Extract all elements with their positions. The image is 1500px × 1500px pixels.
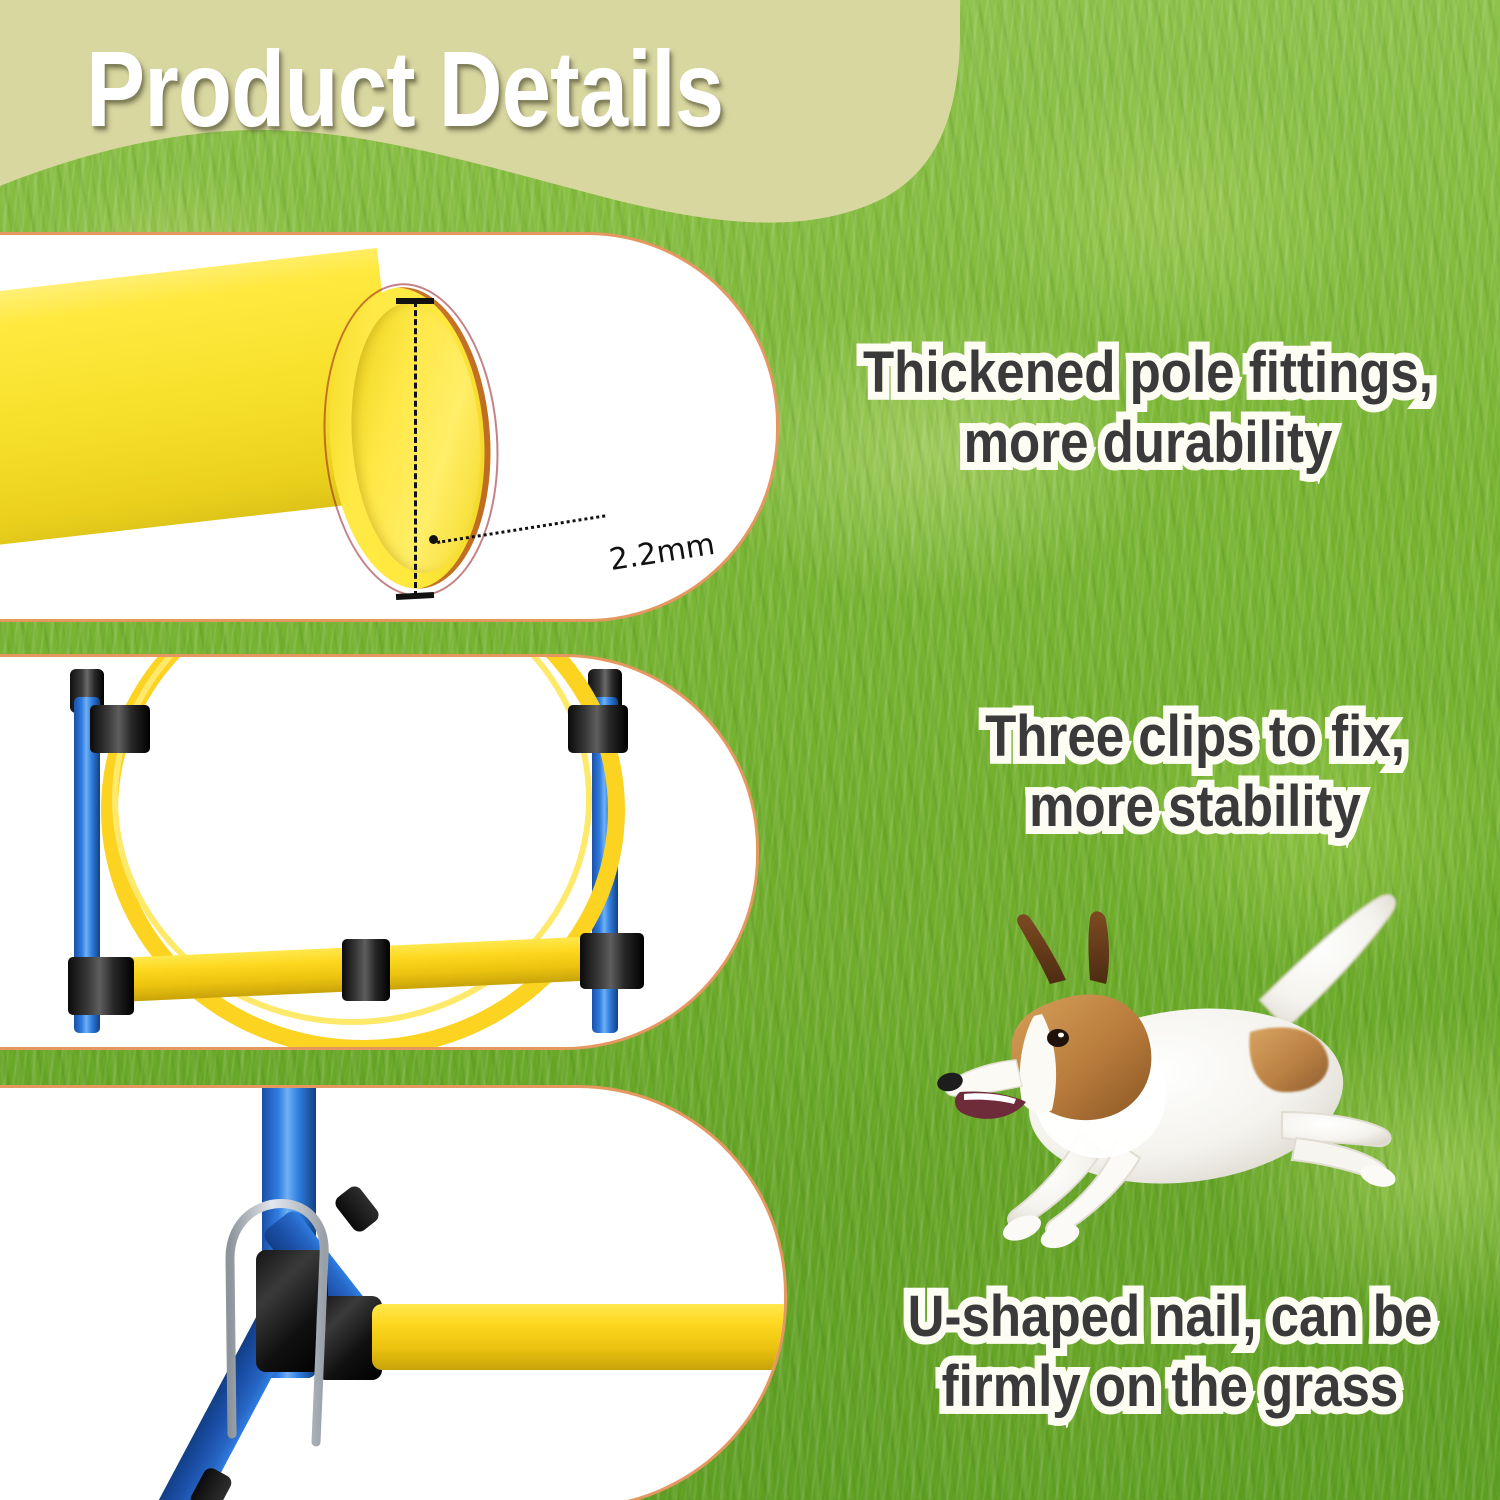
caption-durability: Thickened pole fittings, more durability <box>833 338 1463 478</box>
u-shaped-nail <box>216 1184 366 1489</box>
clip-center <box>342 939 390 1001</box>
horizontal-crossbar <box>372 1304 787 1370</box>
page-title: Product Details <box>86 30 767 150</box>
diameter-tick-bottom <box>396 592 434 600</box>
panel-hurdle-clips <box>0 654 759 1050</box>
diameter-dimension-line <box>414 301 417 597</box>
caption-clips: Three clips to fix, more stability <box>909 702 1481 842</box>
clip-bottom-left <box>68 957 134 1015</box>
diameter-tick-top <box>396 298 434 304</box>
panel-u-nail-base <box>0 1085 787 1500</box>
dog-tail <box>1260 895 1395 1028</box>
clip-bottom-right <box>580 933 644 989</box>
wall-thickness-label: 2.2mm <box>607 527 717 578</box>
clip-top-right <box>568 705 628 753</box>
dog-ear-right <box>1089 911 1110 984</box>
jack-russell-terrier-illustration <box>930 880 1490 1300</box>
dog-photo <box>930 880 1490 1300</box>
title-banner: Product Details <box>0 0 960 240</box>
infographic-canvas: Product Details 27mm 2.2mm <box>0 0 1500 1500</box>
dog-eye-glint <box>1058 1033 1064 1038</box>
u-nail-wire <box>230 1203 324 1442</box>
clip-top-left <box>90 705 150 753</box>
dog-ear-left <box>1017 914 1066 984</box>
panel-tube-cross-section: 27mm 2.2mm <box>0 232 779 622</box>
caption-nail: U-shaped nail, can be firmly on the gras… <box>862 1282 1478 1422</box>
dog-eye <box>1047 1029 1069 1047</box>
